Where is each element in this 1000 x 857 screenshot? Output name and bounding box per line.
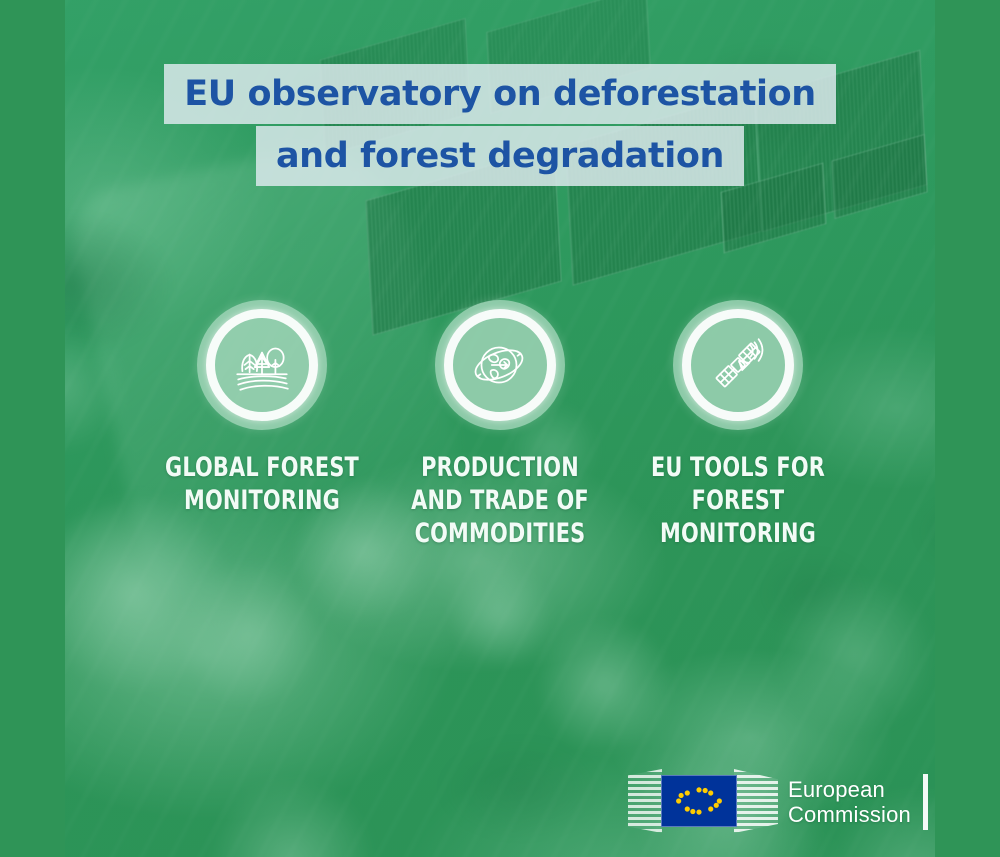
satellite-signal-icon [705,332,771,398]
banner-title: EU observatory on deforestation and fore… [0,64,1000,186]
eu-emblem [628,765,778,839]
feature-global-forest-monitoring[interactable]: GLOBAL FOREST MONITORING [143,300,381,518]
feature-icon-circle[interactable] [197,300,327,430]
feature-label: GLOBAL FOREST MONITORING [164,452,360,518]
logo-divider-bar [923,774,928,830]
logo-text: European Commission [788,777,911,827]
flag-wave-right-icon [734,769,778,833]
feature-production-and-trade[interactable]: PRODUCTION AND TRADE OF COMMODITIES [381,300,619,551]
european-commission-logo[interactable]: European Commission [628,765,928,839]
title-line-1: EU observatory on deforestation [164,64,836,124]
feature-icon-circle[interactable] [673,300,803,430]
logo-text-line-1: European [788,777,911,802]
feature-icon-circle[interactable] [435,300,565,430]
globe-trade-arrows-icon [467,332,533,398]
feature-label: PRODUCTION AND TRADE OF COMMODITIES [402,452,598,551]
eu-observatory-banner: EU observatory on deforestation and fore… [0,0,1000,857]
feature-list: GLOBAL FOREST MONITORING [65,300,935,551]
flag-wave-left-icon [628,769,662,833]
feature-label: EU TOOLS FOR FOREST MONITORING [640,452,836,551]
eu-flag-icon [661,775,737,827]
title-line-2: and forest degradation [256,126,744,186]
feature-eu-tools-for-forest-monitoring[interactable]: EU TOOLS FOR FOREST MONITORING [619,300,857,551]
logo-text-line-2: Commission [788,802,911,827]
forest-trees-field-icon [229,332,295,398]
